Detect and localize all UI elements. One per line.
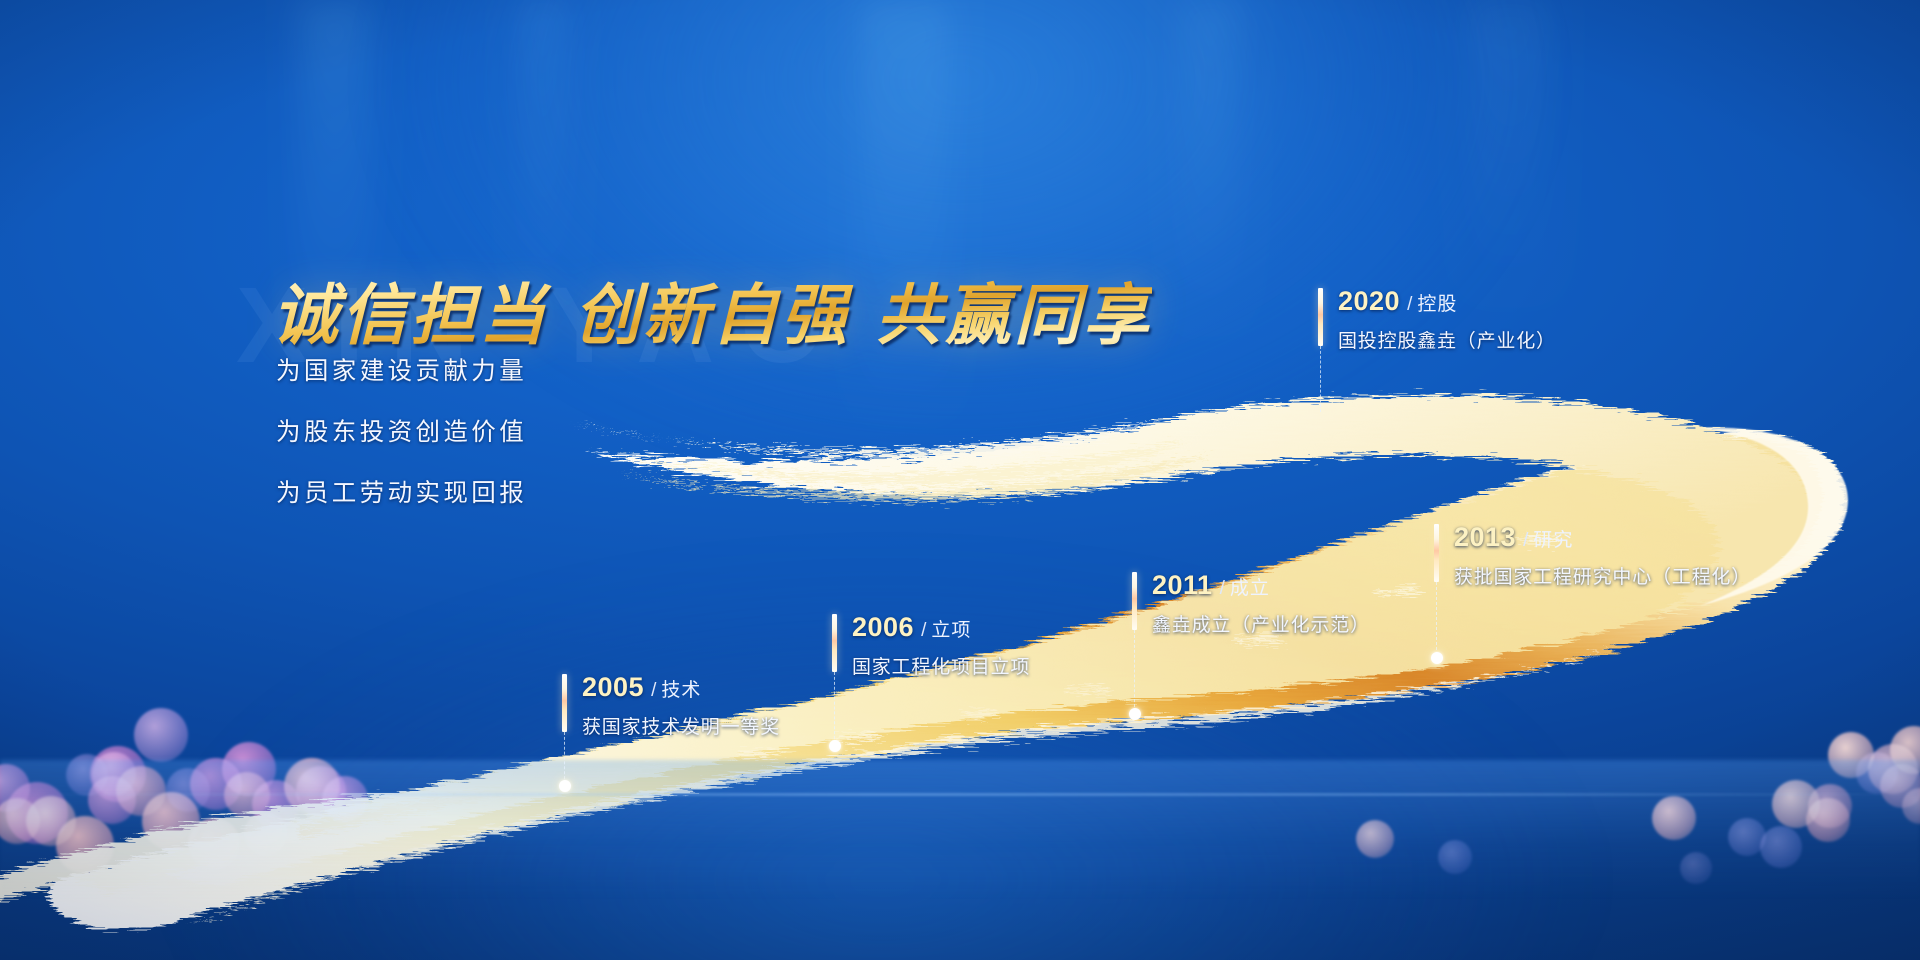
bokeh-light	[252, 780, 300, 828]
bokeh-light	[0, 798, 40, 844]
bokeh-light	[1760, 826, 1802, 868]
milestone-separator: /	[1220, 578, 1225, 600]
milestone-2006[interactable]: 2006 / 立项 国家工程化项目立项	[832, 612, 1030, 679]
milestone-heading: 2006 / 立项	[852, 612, 1030, 643]
milestone-2020[interactable]: 2020 / 控股 国投控股鑫垚（产业化）	[1318, 286, 1556, 353]
milestone-year: 2011	[1152, 570, 1213, 601]
milestone-leader-line-2006	[834, 672, 835, 744]
milestone-leader-line-2011	[1134, 630, 1135, 712]
milestone-2013[interactable]: 2013 / 研究 获批国家工程研究中心（工程化）	[1434, 522, 1751, 589]
milestone-dot-2011	[1129, 708, 1141, 720]
milestone-leader-line-2020	[1320, 346, 1321, 412]
milestone-separator: /	[1407, 294, 1412, 316]
bokeh-light	[90, 746, 146, 802]
milestone-accent-bar	[562, 674, 567, 732]
bokeh-light	[222, 742, 276, 796]
horizontal-light-line	[0, 793, 1920, 796]
milestone-description: 国投控股鑫垚（产业化）	[1338, 326, 1556, 353]
milestone-tag: 控股	[1417, 289, 1457, 316]
bokeh-light	[1652, 796, 1696, 840]
milestone-separator: /	[1523, 530, 1528, 552]
milestone-year: 2013	[1454, 522, 1516, 553]
bokeh-light	[244, 812, 288, 856]
bokeh-light	[1728, 818, 1766, 856]
milestone-heading: 2020 / 控股	[1338, 286, 1556, 317]
milestone-accent-bar	[1434, 524, 1439, 582]
bokeh-light	[284, 758, 340, 814]
milestone-accent-bar	[832, 614, 837, 672]
milestone-tag: 研究	[1533, 525, 1573, 552]
milestone-body: 2005 / 技术 获国家技术发明一等奖	[562, 672, 780, 739]
milestone-year: 2020	[1338, 286, 1400, 317]
page-title: 诚信担当创新自强共赢同享	[272, 262, 1152, 358]
milestone-leader-line-2005	[564, 732, 565, 784]
milestone-dot-2005	[559, 780, 571, 792]
bokeh-light	[1902, 788, 1920, 824]
slogan-list: 为国家建设贡献力量 为股东投资创造价值 为员工劳动实现回报	[276, 352, 527, 535]
bokeh-light	[1772, 780, 1820, 828]
bokeh-light	[166, 768, 210, 812]
headline-part-1: 诚信担当	[272, 278, 548, 352]
milestone-body: 2020 / 控股 国投控股鑫垚（产业化）	[1318, 286, 1556, 353]
milestone-tag: 技术	[661, 675, 701, 702]
bokeh-light	[88, 776, 136, 824]
bokeh-light	[224, 772, 270, 818]
milestone-separator: /	[921, 620, 926, 642]
milestone-accent-bar	[1318, 288, 1323, 346]
bokeh-light	[1856, 752, 1898, 794]
light-beam	[520, 0, 566, 300]
milestone-separator: /	[651, 680, 656, 702]
light-beam	[1180, 0, 1240, 330]
milestone-2011[interactable]: 2011 / 成立 鑫垚成立（产业化示范）	[1132, 570, 1370, 637]
milestone-heading: 2011 / 成立	[1152, 570, 1370, 601]
horizontal-light-band	[0, 760, 1920, 900]
milestone-2005[interactable]: 2005 / 技术 获国家技术发明一等奖	[562, 672, 780, 739]
bokeh-light	[1868, 744, 1918, 794]
bokeh-light	[188, 818, 240, 870]
milestone-description: 国家工程化项目立项	[852, 652, 1030, 679]
bokeh-light	[0, 764, 30, 812]
milestone-body: 2006 / 立项 国家工程化项目立项	[832, 612, 1030, 679]
milestone-description: 获批国家工程研究中心（工程化）	[1454, 562, 1751, 589]
banner-canvas: XIN YAO 诚信担当创新自强共赢同享 为国家建设贡献力量 为股东投资创造价值…	[0, 0, 1920, 960]
bokeh-light	[92, 752, 136, 796]
slogan-line-1: 为国家建设贡献力量	[276, 352, 527, 387]
bokeh-light	[56, 816, 114, 874]
milestone-description: 获国家技术发明一等奖	[582, 712, 780, 739]
bokeh-light	[1890, 726, 1920, 774]
bokeh-light	[142, 792, 200, 850]
milestone-description: 鑫垚成立（产业化示范）	[1152, 610, 1370, 637]
bokeh-light	[1438, 840, 1472, 874]
headline-part-2: 创新自强	[574, 278, 850, 352]
milestone-year: 2005	[582, 672, 644, 703]
bokeh-light	[296, 766, 346, 816]
milestone-tag: 立项	[931, 615, 971, 642]
bokeh-light	[1806, 798, 1850, 842]
bokeh-light	[322, 776, 368, 822]
light-beam	[1470, 0, 1550, 300]
milestone-body: 2013 / 研究 获批国家工程研究中心（工程化）	[1434, 522, 1751, 589]
bokeh-light	[1356, 820, 1394, 858]
bokeh-light	[26, 796, 76, 846]
milestone-year: 2006	[852, 612, 914, 643]
bokeh-light	[1808, 784, 1852, 828]
bokeh-light	[1880, 764, 1920, 808]
bokeh-light	[1680, 852, 1712, 884]
milestone-dot-2013	[1431, 652, 1443, 664]
bokeh-light	[1828, 732, 1874, 778]
milestone-body: 2011 / 成立 鑫垚成立（产业化示范）	[1132, 570, 1370, 637]
bokeh-light	[6, 782, 68, 844]
milestone-leader-line-2013	[1436, 582, 1437, 660]
bokeh-light	[66, 754, 108, 796]
bokeh-light	[134, 708, 188, 762]
milestone-heading: 2005 / 技术	[582, 672, 780, 703]
milestone-heading: 2013 / 研究	[1454, 522, 1751, 553]
slogan-line-2: 为股东投资创造价值	[276, 413, 527, 448]
milestone-tag: 成立	[1230, 573, 1270, 600]
bokeh-light	[116, 766, 166, 816]
milestone-accent-bar	[1132, 572, 1137, 630]
bokeh-light	[190, 758, 242, 810]
slogan-line-3: 为员工劳动实现回报	[276, 474, 527, 509]
headline-part-3: 共赢同享	[876, 278, 1152, 352]
milestone-dot-2006	[829, 740, 841, 752]
